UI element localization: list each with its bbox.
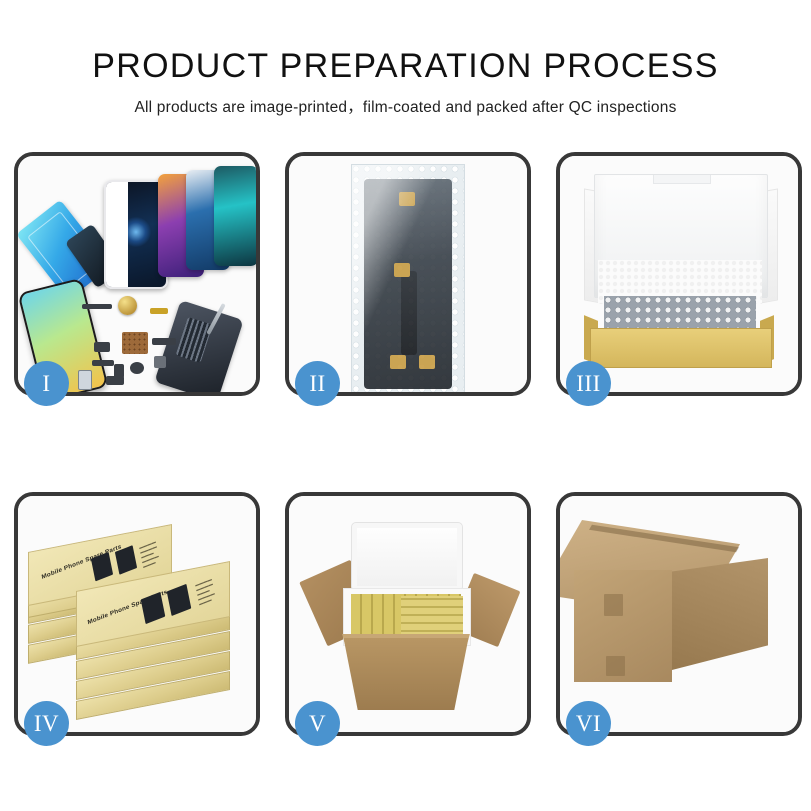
steps-row-1: I II [14,152,802,396]
product-preparation-process-infographic: PRODUCT PREPARATION PROCESS All products… [0,0,811,811]
speaker-part [130,362,144,374]
back-box-spec-lines: ▬▬▬▬▬▬▬▬▬▬▬▬▬▬▬▬▬▬ [139,539,160,569]
step-panel-6: VI [556,492,802,736]
step-badge-3: III [566,361,611,406]
volume-button-part [106,376,124,385]
carton-tape-lower [606,656,625,676]
page-subtitle: All products are image-printed，film-coat… [0,98,811,118]
front-box-spec-lines: ▬▬▬▬▬▬▬▬▬▬▬▬▬▬▬▬▬▬ [195,576,216,606]
step-badge-1: I [24,361,69,406]
step-panel-1: I [14,152,260,396]
stacked-spare-parts-boxes-photo: Mobile Phone Spare Parts ▬▬▬▬▬▬▬▬▬▬▬▬▬▬▬… [18,496,256,732]
box-stack: Mobile Phone Spare Parts ▬▬▬▬▬▬▬▬▬▬▬▬▬▬▬… [24,520,250,716]
teal-gradient-phone [214,166,256,266]
carton-side-face [672,558,768,670]
logic-board-chip [122,332,148,354]
bubble-wrapped-screen-photo [289,156,527,392]
step-panel-4: Mobile Phone Spare Parts ▬▬▬▬▬▬▬▬▬▬▬▬▬▬▬… [14,492,260,736]
outer-carton-body [335,638,477,710]
vibrator-motor-part [154,356,166,368]
back-box-thumb-1 [91,552,113,582]
step-panel-5: V [285,492,531,736]
foam-carton-packing-photo [289,496,527,732]
flex-cable-part [82,304,112,309]
steps-grid: I II [14,152,802,736]
antenna-cable-part [152,338,176,345]
gold-connector-part [150,308,168,314]
bubble-wrap-sleeve [351,164,465,392]
sim-tray-part [78,370,92,390]
bubble-wrap-highlight [352,165,464,392]
inner-box-with-bubble-wrap-photo [560,156,798,392]
sealed-shipping-carton-photo [560,496,798,732]
bubble-wrap-layer [604,296,756,332]
steps-row-2: Mobile Phone Spare Parts ▬▬▬▬▬▬▬▬▬▬▬▬▬▬▬… [14,492,802,736]
step-badge-2: II [295,361,340,406]
yellow-boxes-right-group [401,596,463,638]
foam-case-lid [351,522,463,592]
carton-tape-upper [604,594,623,616]
step-badge-5: V [295,701,340,746]
small-module-part [94,342,110,352]
step-panel-3: III [556,152,802,396]
step-badge-6: VI [566,701,611,746]
back-box-thumb-2 [115,545,137,575]
page-title: PRODUCT PREPARATION PROCESS [0,46,811,86]
step-panel-2: II [285,152,531,396]
ribbon-cable-part [92,360,114,366]
phone-back-housing [154,300,243,392]
front-box-thumb-2 [167,584,192,616]
spare-parts-assortment-photo [18,156,256,392]
yellow-box-front [590,328,772,368]
camera-lens-part [118,296,137,315]
header: PRODUCT PREPARATION PROCESS All products… [0,0,811,118]
step-badge-4: IV [24,701,69,746]
